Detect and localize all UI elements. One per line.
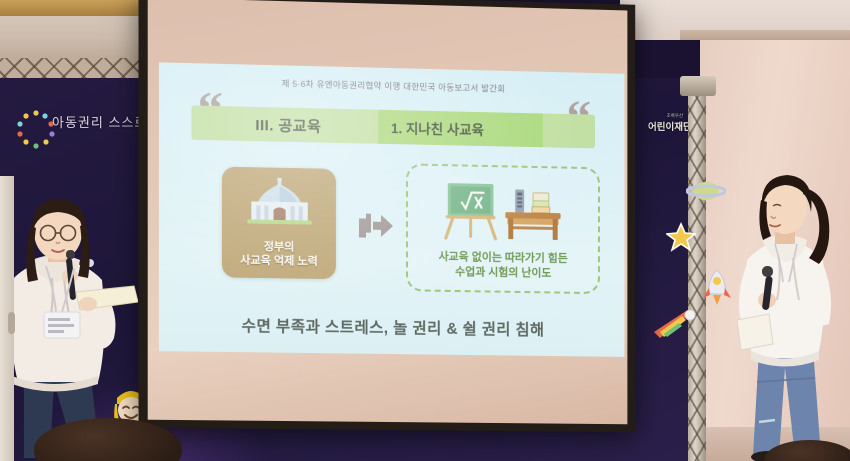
slide-title-bar: III. 공교육 1. 지나친 사교육 bbox=[191, 105, 595, 148]
ceiling-light-strip bbox=[680, 30, 850, 40]
slide-subsection-chip: 1. 지나친 사교육 bbox=[378, 110, 543, 148]
private-education-label-line1: 사교육 없이는 따라가기 힘든 bbox=[414, 250, 592, 268]
screen-surface: 제 5·6차 유엔아동권리협약 이행 대한민국 아동보고서 발간회 “ “ II… bbox=[148, 0, 628, 424]
slide-conclusion-text: 수면 부족과 스트레스, 놀 권리 & 쉴 권리 침해 bbox=[159, 313, 625, 341]
private-education-card: 사교육 없이는 따라가기 힘든 수업과 시험의 난이도 bbox=[406, 163, 600, 294]
rocket-sticker bbox=[700, 268, 734, 306]
truss-cap bbox=[680, 76, 716, 96]
slide-subsection-title: 1. 지나친 사교육 bbox=[391, 117, 484, 139]
slide-section-title: III. 공교육 bbox=[255, 113, 321, 136]
comet-sticker bbox=[652, 310, 696, 344]
government-building-icon bbox=[242, 177, 317, 240]
door-handle bbox=[8, 312, 15, 334]
slide-kicker-text: 제 5·6차 유엔아동권리협약 이행 대한민국 아동보고서 발간회 bbox=[159, 74, 625, 97]
presenter-right bbox=[735, 172, 850, 461]
projection-screen: 제 5·6차 유엔아동권리협약 이행 대한민국 아동보고서 발간회 “ “ II… bbox=[139, 0, 636, 432]
screenshot-root: 아동권리 스스로 지 cef KOREA 초록우산 어린이재단 bbox=[0, 0, 850, 461]
star-sticker bbox=[666, 222, 696, 252]
arrow-right-icon bbox=[359, 210, 393, 246]
government-card-label: 정부의 사교육 억제 노력 bbox=[222, 239, 336, 269]
presentation-slide: 제 5·6차 유엔아동권리협약 이행 대한민국 아동보고서 발간회 “ “ II… bbox=[159, 62, 625, 357]
government-card-label-line2: 사교육 억제 노력 bbox=[222, 253, 336, 269]
green-umbrella-wordmark: 어린이재단 bbox=[648, 122, 692, 133]
private-education-card-label: 사교육 없이는 따라가기 힘든 수업과 시험의 난이도 bbox=[414, 250, 592, 282]
planet-sticker bbox=[686, 178, 726, 204]
chalkboard-desk-icon bbox=[438, 178, 569, 247]
private-education-label-line2: 수업과 시험의 난이도 bbox=[414, 265, 592, 283]
government-effort-card: 정부의 사교육 억제 노력 bbox=[222, 167, 336, 280]
